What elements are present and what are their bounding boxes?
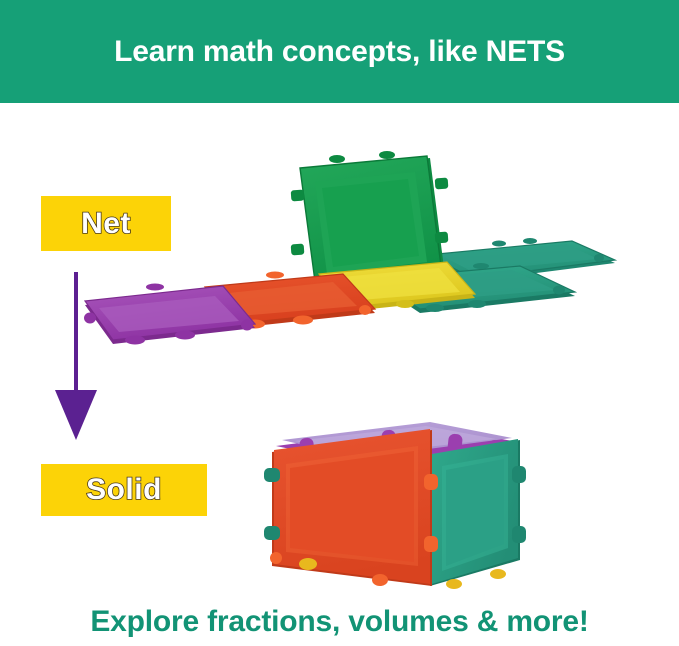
solid-label-text: Solid xyxy=(86,473,162,507)
net-tile-purple xyxy=(84,284,255,345)
tagline-text: Explore fractions, volumes & more! xyxy=(90,605,588,639)
tagline-banner: Explore fractions, volumes & more! xyxy=(0,598,679,646)
solid-face-front xyxy=(264,429,438,586)
solid-face-right xyxy=(430,439,526,589)
solid-illustration xyxy=(240,408,530,594)
solid-label-chip: Solid xyxy=(41,464,207,516)
header-banner: Learn math concepts, like NETS xyxy=(0,0,679,103)
net-illustration xyxy=(75,148,615,348)
arrow-head xyxy=(55,390,97,440)
page-title: Learn math concepts, like NETS xyxy=(114,35,565,69)
